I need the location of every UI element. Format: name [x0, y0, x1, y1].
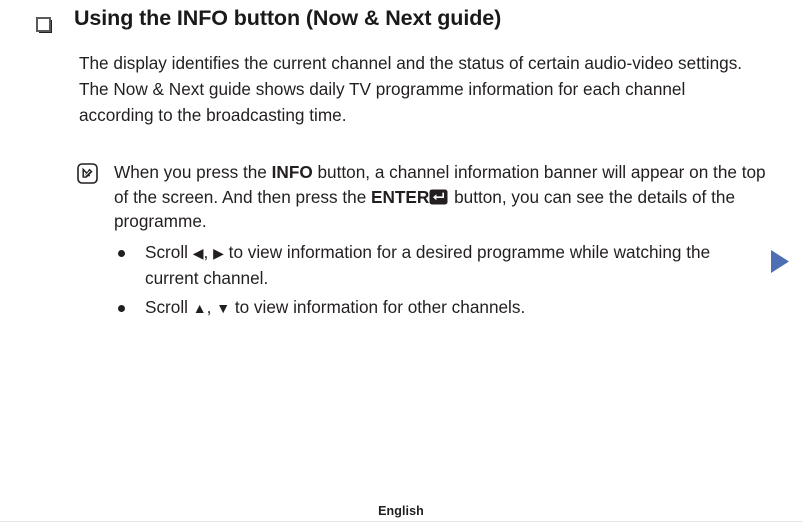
bullet-1-text-part-2: to view information for a desired progra… [145, 242, 710, 288]
list-item: Scroll ▲, ▼ to view information for othe… [118, 295, 763, 321]
square-bullet-icon [36, 17, 51, 32]
right-arrow-icon: ▶ [213, 245, 224, 261]
bullet-1-text-part-1: Scroll [145, 242, 193, 262]
left-arrow-icon: ◀ [193, 245, 204, 261]
round-bullet-icon [118, 305, 125, 312]
list-item: Scroll ◀, ▶ to view information for a de… [118, 240, 763, 290]
note-emphasis-enter: ENTER [371, 187, 429, 207]
body-text-block: The display identifies the current chann… [79, 50, 747, 128]
paragraph-2: The Now & Next guide shows daily TV prog… [79, 76, 747, 128]
list-item-text: Scroll ▲, ▼ to view information for othe… [145, 295, 763, 321]
down-arrow-icon: ▼ [216, 300, 230, 316]
bullet-2-text-part-1: Scroll [145, 297, 193, 317]
manual-page: Using the INFO button (Now & Next guide)… [0, 0, 802, 525]
note-text-part-1: When you press the [114, 162, 272, 182]
round-bullet-icon [118, 250, 125, 257]
note-block: When you press the INFO button, a channe… [77, 160, 767, 234]
up-arrow-icon: ▲ [193, 300, 207, 316]
next-page-triangle-icon[interactable] [768, 249, 792, 274]
bullet-list: Scroll ◀, ▶ to view information for a de… [118, 240, 763, 326]
page-title: Using the INFO button (Now & Next guide) [36, 6, 762, 32]
note-pencil-icon [77, 163, 98, 184]
page-title-text: Using the INFO button (Now & Next guide) [74, 6, 501, 32]
page-footer: English [0, 502, 802, 520]
footer-divider [0, 521, 802, 522]
bullet-2-separator: , [207, 297, 217, 317]
enter-return-key-icon [429, 187, 448, 203]
footer-language-label: English [378, 504, 424, 518]
bullet-2-text-part-2: to view information for other channels. [230, 297, 525, 317]
note-emphasis-info: INFO [272, 162, 313, 182]
note-text: When you press the INFO button, a channe… [114, 160, 767, 234]
bullet-1-separator: , [204, 242, 214, 262]
paragraph-1: The display identifies the current chann… [79, 50, 747, 76]
list-item-text: Scroll ◀, ▶ to view information for a de… [145, 240, 763, 290]
